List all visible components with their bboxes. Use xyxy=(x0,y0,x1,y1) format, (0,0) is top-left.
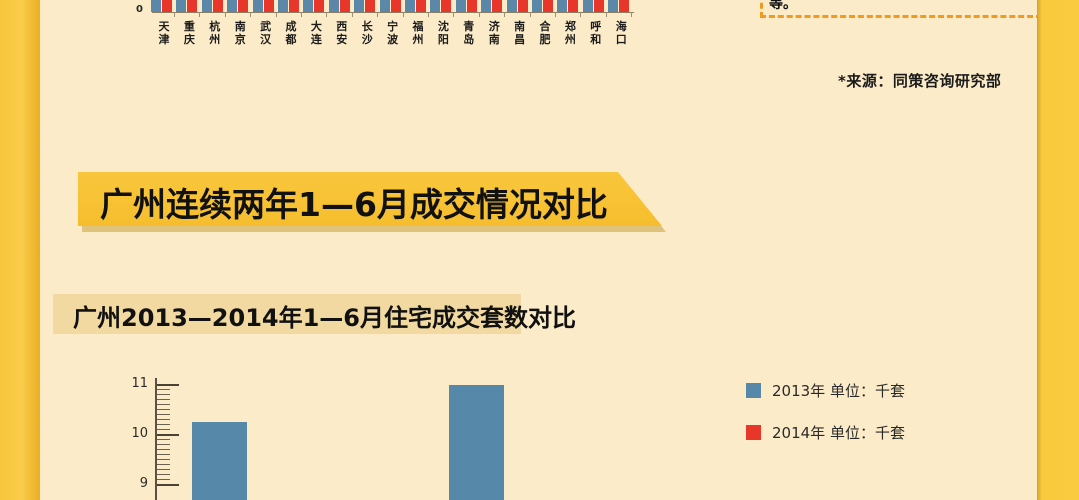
top-chart-bar xyxy=(568,0,578,12)
note-callout-box: 等。 xyxy=(760,0,1037,18)
note-callout-text: 等。 xyxy=(769,0,797,13)
y-axis-minor-tick xyxy=(157,439,170,440)
top-chart-bar xyxy=(594,0,604,12)
y-axis-label: 11 xyxy=(122,376,148,391)
top-chart-bar-group xyxy=(175,0,199,12)
top-chart-bar-group xyxy=(480,0,504,12)
top-chart-bar-group xyxy=(226,0,250,12)
top-chart-bar-group xyxy=(582,0,606,12)
top-chart-bar xyxy=(543,0,553,12)
y-axis-minor-tick xyxy=(157,424,170,425)
top-chart-bar xyxy=(481,0,491,12)
y-axis-minor-tick xyxy=(157,399,170,400)
top-chart-bar xyxy=(303,0,313,12)
top-chart-city-label: 重庆 xyxy=(177,20,201,46)
top-chart-city-label: 长沙 xyxy=(355,20,379,46)
top-chart-city-label: 成都 xyxy=(279,20,303,46)
top-chart-bar xyxy=(405,0,415,12)
top-chart-bar-group xyxy=(455,0,479,12)
top-chart-city-label: 济南 xyxy=(482,20,506,46)
top-chart-bar xyxy=(518,0,528,12)
top-chart-bar xyxy=(213,0,223,12)
top-chart-city-label: 武汉 xyxy=(254,20,278,46)
top-chart-bar-group xyxy=(506,0,530,12)
top-chart-bar xyxy=(532,0,542,12)
source-attribution: *来源：同策咨询研究部 xyxy=(838,70,1001,91)
y-axis-minor-tick xyxy=(157,419,170,420)
top-chart-axis-tick xyxy=(555,12,556,17)
top-chart-bar xyxy=(238,0,248,12)
chart-subtitle-band: 广州2013—2014年1—6月住宅成交套数对比 xyxy=(53,294,521,334)
top-chart-city-label: 南昌 xyxy=(508,20,532,46)
top-chart-axis-tick xyxy=(530,12,531,17)
top-chart-axis-tick xyxy=(403,12,404,17)
y-axis-label: 9 xyxy=(122,476,148,491)
legend-color-swatch xyxy=(746,425,761,440)
page-edge-left xyxy=(0,0,40,500)
top-chart-bar-group xyxy=(252,0,276,12)
top-chart-bar-group xyxy=(556,0,580,12)
top-chart-axis-tick xyxy=(276,12,277,17)
top-chart-bar-group xyxy=(302,0,326,12)
y-axis-minor-tick xyxy=(157,389,170,390)
top-chart-axis-tick xyxy=(199,12,200,17)
y-axis-minor-tick xyxy=(157,454,170,455)
top-chart-axis-tick xyxy=(174,12,175,17)
top-chart-city-label: 南京 xyxy=(228,20,252,46)
page-edge-right xyxy=(1037,0,1079,500)
y-axis-minor-tick xyxy=(157,449,170,450)
y-axis-minor-tick xyxy=(157,464,170,465)
y-axis-minor-tick xyxy=(157,394,170,395)
top-chart-bar xyxy=(583,0,593,12)
top-chart-bar-group xyxy=(429,0,453,12)
top-chart-bar xyxy=(151,0,161,12)
y-axis-minor-tick xyxy=(157,429,170,430)
top-chart-bar-group xyxy=(353,0,377,12)
top-chart-bar-group xyxy=(404,0,428,12)
top-chart-axis-tick xyxy=(428,12,429,17)
top-chart-axis-tick xyxy=(504,12,505,17)
top-chart-city-label: 大连 xyxy=(304,20,328,46)
section-banner-title: 广州连续两年1—6月成交情况对比 xyxy=(100,178,608,226)
y-axis-major-tick xyxy=(157,434,179,436)
top-chart-zero-label: 0 xyxy=(136,4,143,15)
top-chart-bar xyxy=(253,0,263,12)
top-chart-city-label: 杭州 xyxy=(203,20,227,46)
top-chart-axis-tick xyxy=(301,12,302,17)
top-chart-city-label: 福州 xyxy=(406,20,430,46)
top-chart-bar xyxy=(430,0,440,12)
y-axis-minor-tick xyxy=(157,479,170,480)
top-chart-axis-tick xyxy=(352,12,353,17)
top-chart-city-label: 天津 xyxy=(152,20,176,46)
top-chart-bar xyxy=(492,0,502,12)
top-chart-axis-tick xyxy=(479,12,480,17)
chart-subtitle-text: 广州2013—2014年1—6月住宅成交套数对比 xyxy=(73,298,576,333)
top-chart-bar xyxy=(507,0,517,12)
top-chart-bar xyxy=(176,0,186,12)
top-chart-bar xyxy=(227,0,237,12)
legend-color-swatch xyxy=(746,383,761,398)
y-axis-minor-tick xyxy=(157,474,170,475)
y-axis-label: 10 xyxy=(122,426,148,441)
top-chart-bar xyxy=(391,0,401,12)
top-chart-axis-tick xyxy=(580,12,581,17)
top-chart-bar xyxy=(354,0,364,12)
top-chart-bar xyxy=(416,0,426,12)
top-chart-axis-tick xyxy=(453,12,454,17)
top-chart-city-label: 沈阳 xyxy=(431,20,455,46)
top-chart-bar-group xyxy=(379,0,403,12)
legend-label: 2014年 单位：千套 xyxy=(772,422,905,443)
top-chart-bar xyxy=(557,0,567,12)
top-chart-bar xyxy=(456,0,466,12)
top-chart-city-label: 合肥 xyxy=(533,20,557,46)
top-chart-bar xyxy=(380,0,390,12)
y-axis-major-tick xyxy=(157,384,179,386)
y-axis-minor-tick xyxy=(157,404,170,405)
top-chart-axis-tick xyxy=(250,12,251,17)
top-chart-bar xyxy=(608,0,618,12)
top-chart-bar xyxy=(289,0,299,12)
top-chart-bar-group xyxy=(531,0,555,12)
top-city-bar-chart: 0 天津重庆杭州南京武汉成都大连西安长沙宁波福州沈阳青岛济南南昌合肥郑州呼和海口 xyxy=(100,0,700,50)
y-axis-minor-tick xyxy=(157,414,170,415)
infographic-page: 0 天津重庆杭州南京武汉成都大连西安长沙宁波福州沈阳青岛济南南昌合肥郑州呼和海口… xyxy=(40,0,1037,500)
top-chart-axis-tick xyxy=(606,12,607,17)
top-chart-bar-group xyxy=(607,0,631,12)
top-chart-bar xyxy=(340,0,350,12)
top-chart-city-label: 宁波 xyxy=(381,20,405,46)
top-chart-axis-tick xyxy=(326,12,327,17)
top-chart-bar xyxy=(264,0,274,12)
y-axis-minor-tick xyxy=(157,409,170,410)
legend-label: 2013年 单位：千套 xyxy=(772,380,905,401)
top-chart-bar xyxy=(329,0,339,12)
top-chart-axis-tick xyxy=(377,12,378,17)
top-chart-city-label: 海口 xyxy=(609,20,633,46)
top-chart-bar xyxy=(619,0,629,12)
y-axis-minor-tick xyxy=(157,469,170,470)
top-chart-axis-tick xyxy=(225,12,226,17)
y-axis-minor-tick xyxy=(157,444,170,445)
top-chart-bar xyxy=(441,0,451,12)
top-chart-bar xyxy=(202,0,212,12)
top-chart-bar xyxy=(365,0,375,12)
top-chart-city-label: 青岛 xyxy=(457,20,481,46)
top-chart-bar xyxy=(314,0,324,12)
top-chart-city-label: 西安 xyxy=(330,20,354,46)
top-chart-bar-group xyxy=(328,0,352,12)
top-chart-bar-group xyxy=(277,0,301,12)
top-chart-bar-group xyxy=(201,0,225,12)
top-chart-city-label: 呼和 xyxy=(584,20,608,46)
top-chart-axis-tick xyxy=(631,12,632,17)
bottom-chart-bar xyxy=(192,422,247,500)
top-chart-bar xyxy=(467,0,477,12)
top-chart-city-label: 郑州 xyxy=(558,20,582,46)
top-chart-bar xyxy=(162,0,172,12)
bottom-chart-bar xyxy=(449,385,504,500)
section-banner: 广州连续两年1—6月成交情况对比 xyxy=(78,172,678,234)
top-chart-bar-group xyxy=(150,0,174,12)
y-axis-major-tick xyxy=(157,484,179,486)
top-chart-bar xyxy=(187,0,197,12)
y-axis-minor-tick xyxy=(157,459,170,460)
top-chart-bar xyxy=(278,0,288,12)
